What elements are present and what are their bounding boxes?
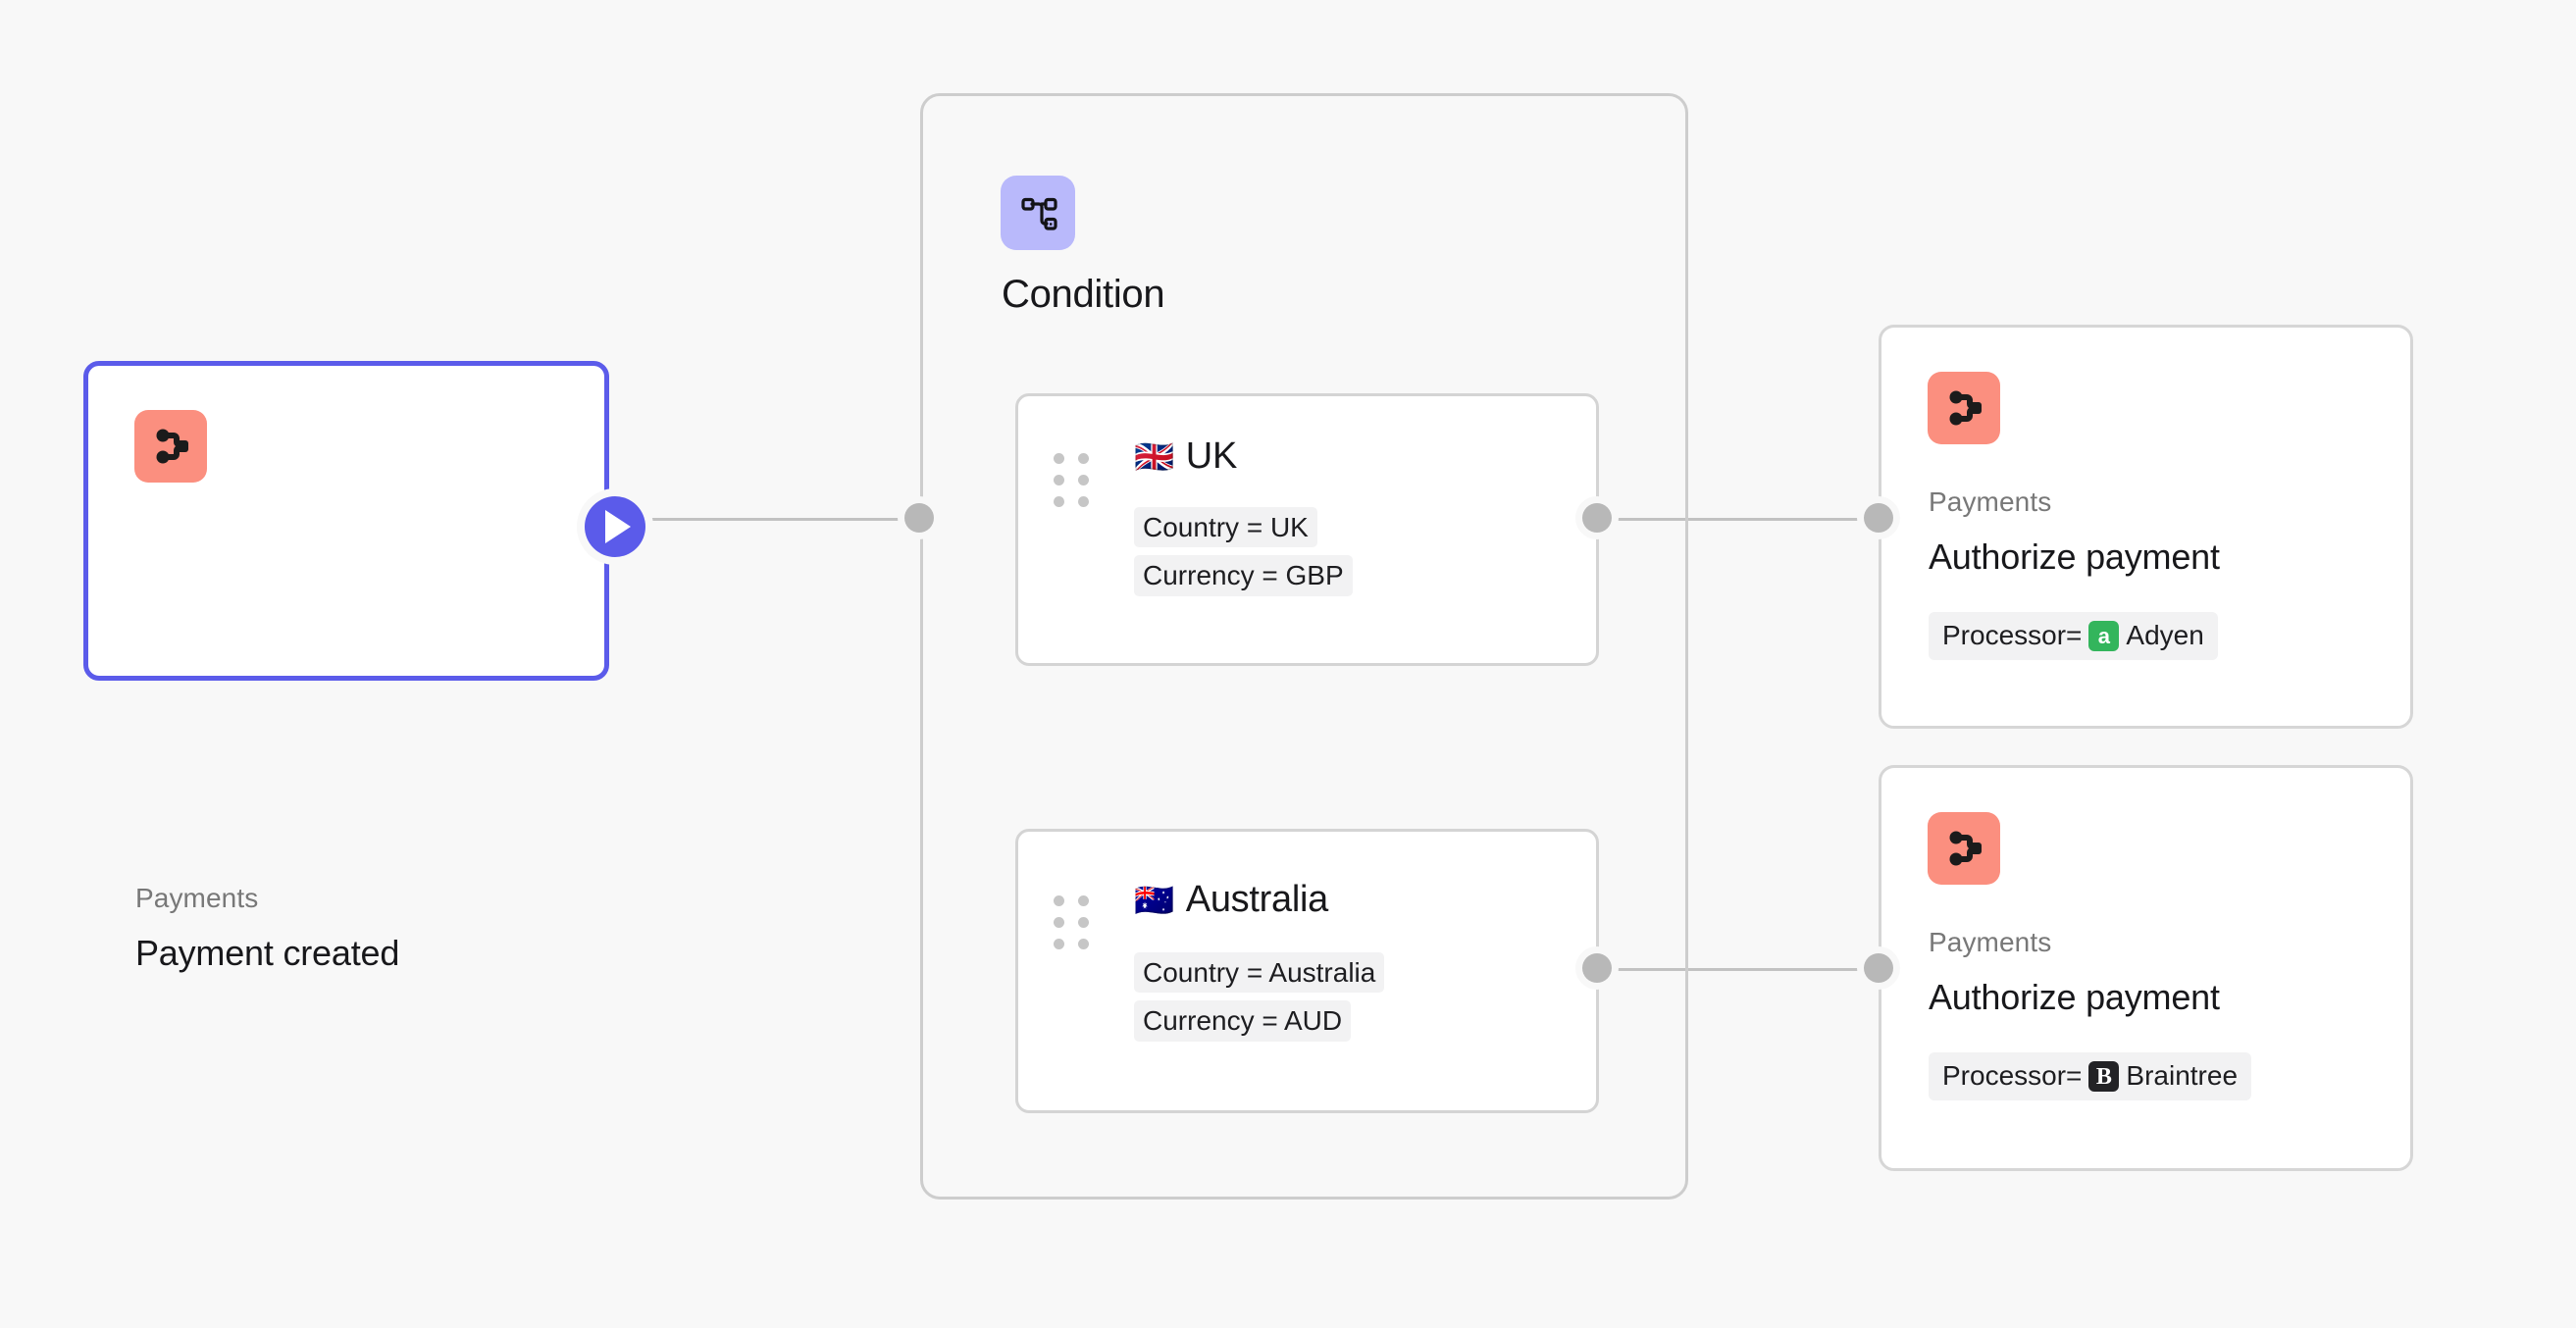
processor-chip-adyen[interactable]: Processor= a Adyen xyxy=(1929,612,2218,660)
condition-chip[interactable]: Currency = GBP xyxy=(1134,555,1353,595)
processor-prefix-label: Processor= xyxy=(1942,621,2082,651)
braintree-logo-glyph: B xyxy=(2096,1065,2112,1089)
condition-chip[interactable]: Country = UK xyxy=(1134,507,1317,547)
branch-uk-label: UK xyxy=(1186,435,1237,478)
play-icon xyxy=(605,510,631,543)
port-braintree-input[interactable] xyxy=(1864,953,1893,983)
condition-chip[interactable]: Currency = AUD xyxy=(1134,1000,1351,1041)
branch-australia-conditions: Country = Australia Currency = AUD xyxy=(1134,952,1384,1042)
action-kicker: Payments xyxy=(1929,927,2051,958)
branch-uk-conditions: Country = UK Currency = GBP xyxy=(1134,507,1353,596)
trigger-title: Payment created xyxy=(135,933,399,974)
action-node-authorize-payment-adyen[interactable]: Payments Authorize payment Processor= a … xyxy=(1879,325,2413,729)
action-title: Authorize payment xyxy=(1929,536,2220,578)
payments-branch-icon xyxy=(1928,812,2000,885)
action-node-authorize-payment-braintree[interactable]: Payments Authorize payment Processor= B … xyxy=(1879,765,2413,1171)
port-uk-output[interactable] xyxy=(1582,503,1612,533)
flag-uk-icon: 🇬🇧 xyxy=(1134,440,1174,473)
action-kicker: Payments xyxy=(1929,486,2051,518)
edge-trigger-to-condition xyxy=(628,518,932,521)
port-adyen-input[interactable] xyxy=(1864,503,1893,533)
braintree-logo: B xyxy=(2088,1061,2119,1092)
adyen-logo: a xyxy=(2088,621,2119,651)
condition-chip[interactable]: Country = Australia xyxy=(1134,952,1384,993)
branch-australia-header: 🇦🇺 Australia xyxy=(1134,879,1328,921)
action-title: Authorize payment xyxy=(1929,977,2220,1018)
branch-uk-header: 🇬🇧 UK xyxy=(1134,435,1237,478)
adyen-logo-glyph: a xyxy=(2098,626,2110,647)
port-condition-input[interactable] xyxy=(904,503,934,533)
drag-handle-icon[interactable] xyxy=(1054,453,1089,507)
processor-chip-braintree[interactable]: Processor= B Braintree xyxy=(1929,1052,2251,1100)
branch-card-australia[interactable]: 🇦🇺 Australia Country = Australia Currenc… xyxy=(1015,829,1599,1113)
workflow-canvas[interactable]: Payments Payment created Condition 🇬🇧 UK xyxy=(0,0,2576,1328)
processor-name-label: Braintree xyxy=(2126,1061,2238,1092)
flag-australia-icon: 🇦🇺 xyxy=(1134,884,1174,916)
trigger-node-payment-created[interactable]: Payments Payment created xyxy=(83,361,609,681)
condition-branch-icon xyxy=(1001,176,1075,250)
processor-prefix-label: Processor= xyxy=(1942,1061,2082,1092)
drag-handle-icon[interactable] xyxy=(1054,895,1089,949)
condition-group-title: Condition xyxy=(1002,273,1164,317)
run-workflow-button[interactable] xyxy=(585,496,645,557)
processor-name-label: Adyen xyxy=(2126,621,2203,651)
branch-card-uk[interactable]: 🇬🇧 UK Country = UK Currency = GBP xyxy=(1015,393,1599,666)
port-australia-output[interactable] xyxy=(1582,953,1612,983)
payments-branch-icon xyxy=(134,410,207,483)
payments-branch-icon xyxy=(1928,372,2000,444)
branch-australia-label: Australia xyxy=(1186,879,1328,921)
trigger-kicker: Payments xyxy=(135,883,258,914)
